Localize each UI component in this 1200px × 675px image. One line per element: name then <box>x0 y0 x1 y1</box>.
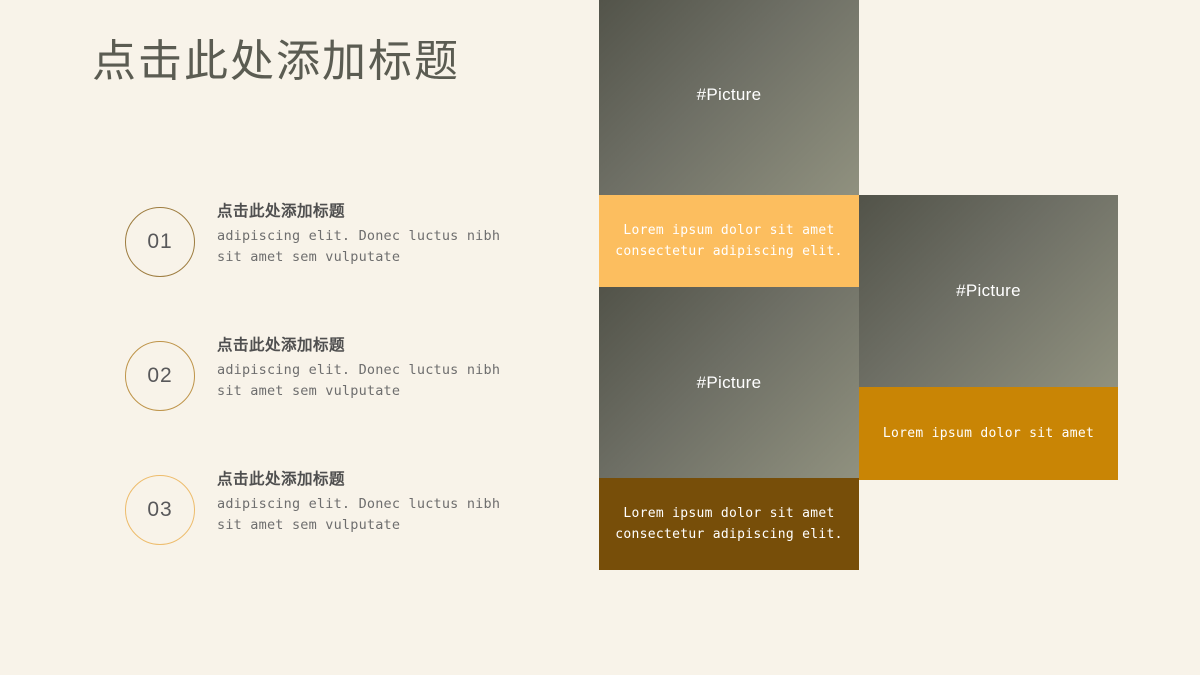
caption-text: Lorem ipsum dolor sit amet <box>867 423 1110 444</box>
caption-block-yellow[interactable]: Lorem ipsum dolor sit amet consectetur a… <box>599 195 859 287</box>
list-item-description: adipiscing elit. Donec luctus nibh sit a… <box>217 360 527 402</box>
list-item[interactable]: 03 点击此处添加标题 adipiscing elit. Donec luctu… <box>125 468 545 550</box>
list-item[interactable]: 01 点击此处添加标题 adipiscing elit. Donec luctu… <box>125 200 545 282</box>
list-item-description: adipiscing elit. Donec luctus nibh sit a… <box>217 494 527 536</box>
list-item-title: 点击此处添加标题 <box>217 468 527 491</box>
number-label: 02 <box>147 364 172 388</box>
list-item-description: adipiscing elit. Donec luctus nibh sit a… <box>217 226 527 268</box>
numbered-list: 01 点击此处添加标题 adipiscing elit. Donec luctu… <box>125 200 545 602</box>
list-item-body: 点击此处添加标题 adipiscing elit. Donec luctus n… <box>217 334 527 402</box>
number-label: 03 <box>147 498 172 522</box>
picture-placeholder-middle-left[interactable]: #Picture <box>599 287 859 478</box>
number-circle-01: 01 <box>125 207 195 277</box>
caption-block-amber[interactable]: Lorem ipsum dolor sit amet <box>859 387 1118 480</box>
slide-canvas: 点击此处添加标题 01 点击此处添加标题 adipiscing elit. Do… <box>0 0 1200 675</box>
page-title: 点击此处添加标题 <box>92 36 460 89</box>
number-circle-03: 03 <box>125 475 195 545</box>
list-item-title: 点击此处添加标题 <box>217 200 527 223</box>
picture-placeholder-label: #Picture <box>697 373 762 393</box>
list-item-title: 点击此处添加标题 <box>217 334 527 357</box>
picture-placeholder-label: #Picture <box>697 85 762 105</box>
picture-placeholder-top[interactable]: #Picture <box>599 0 859 195</box>
list-item-body: 点击此处添加标题 adipiscing elit. Donec luctus n… <box>217 468 527 536</box>
list-item[interactable]: 02 点击此处添加标题 adipiscing elit. Donec luctu… <box>125 334 545 416</box>
number-circle-02: 02 <box>125 341 195 411</box>
picture-placeholder-right[interactable]: #Picture <box>859 195 1118 387</box>
caption-block-brown[interactable]: Lorem ipsum dolor sit amet consectetur a… <box>599 478 859 570</box>
list-item-body: 点击此处添加标题 adipiscing elit. Donec luctus n… <box>217 200 527 268</box>
caption-text: Lorem ipsum dolor sit amet consectetur a… <box>599 503 859 545</box>
picture-placeholder-label: #Picture <box>956 281 1021 301</box>
caption-text: Lorem ipsum dolor sit amet consectetur a… <box>599 220 859 262</box>
number-label: 01 <box>147 230 172 254</box>
